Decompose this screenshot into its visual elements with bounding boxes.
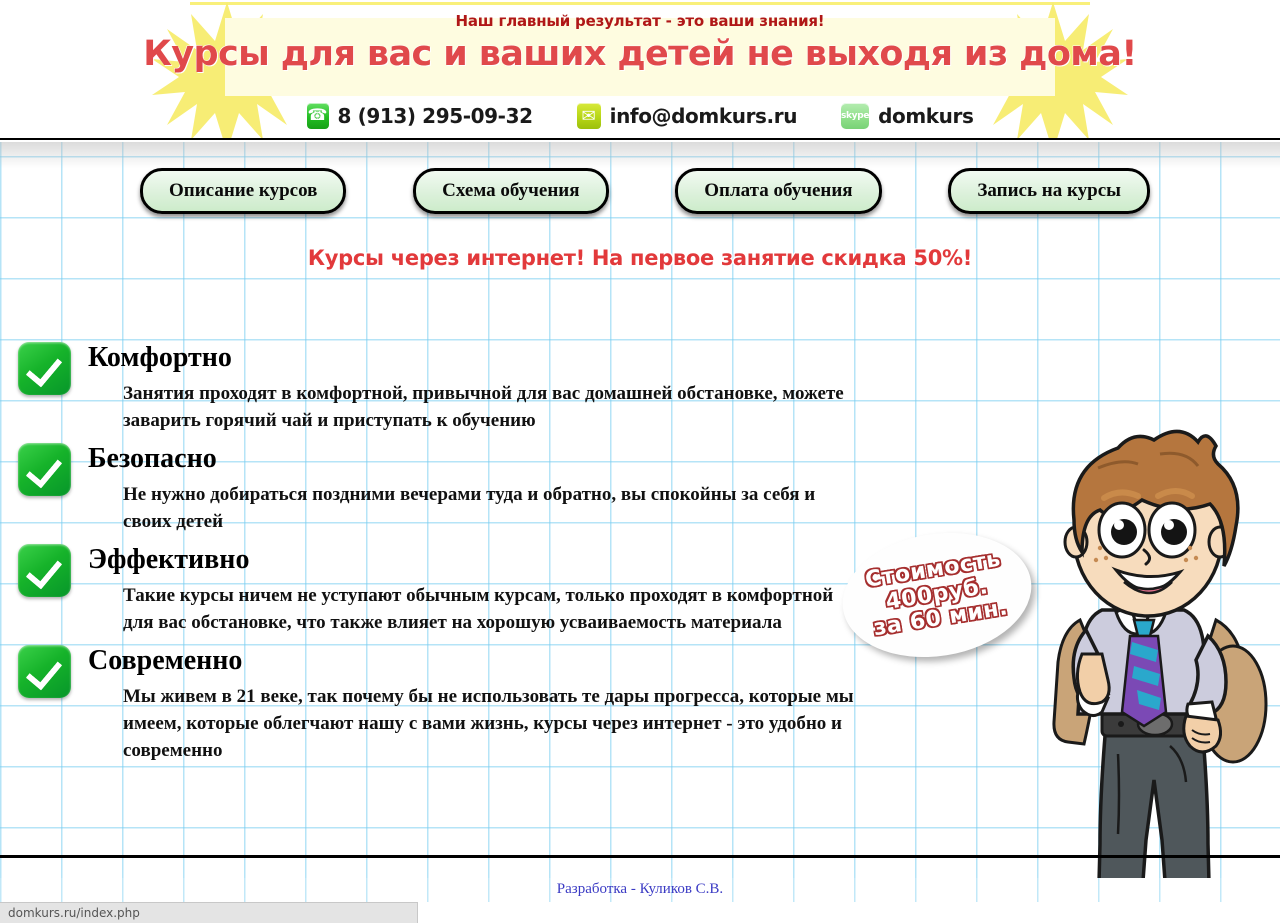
check-icon bbox=[18, 645, 71, 698]
status-bar-url: domkurs.ru/index.php bbox=[8, 906, 140, 920]
header-top-accent-line bbox=[190, 2, 1090, 5]
feature-title: Современно bbox=[88, 645, 858, 675]
contact-phone-text: 8 (913) 295-09-32 bbox=[338, 104, 533, 128]
mail-icon bbox=[577, 103, 601, 129]
feature-body: Мы живем в 21 веке, так почему бы не исп… bbox=[123, 684, 858, 765]
skype-icon: skype bbox=[841, 103, 869, 129]
check-icon bbox=[18, 443, 71, 496]
contact-skype[interactable]: skype domkurs bbox=[841, 103, 973, 129]
price-bubble: Стоимость 400руб. за 60 мин. bbox=[834, 520, 1041, 670]
contact-phone[interactable]: 8 (913) 295-09-32 bbox=[307, 103, 533, 129]
nav-button-study-scheme[interactable]: Схема обучения bbox=[413, 168, 608, 214]
browser-status-bar: domkurs.ru/index.php bbox=[0, 902, 418, 923]
header-divider bbox=[0, 138, 1280, 140]
header-kicker: Наш главный результат - это ваши знания! bbox=[0, 12, 1280, 30]
feature-item-safe: Безопасно Не нужно добираться поздними в… bbox=[18, 443, 858, 536]
footer-credit: Разработка - Куликов С.В. bbox=[0, 881, 1280, 898]
contact-email[interactable]: info@domkurs.ru bbox=[577, 103, 797, 129]
feature-body: Занятия проходят в комфортной, привычной… bbox=[123, 381, 858, 435]
phone-icon bbox=[307, 103, 329, 129]
feature-title: Безопасно bbox=[88, 443, 858, 473]
footer-divider bbox=[0, 855, 1280, 858]
nav-button-course-description[interactable]: Описание курсов bbox=[140, 168, 346, 214]
main-content: Описание курсов Схема обучения Оплата об… bbox=[0, 142, 1280, 882]
feature-body: Такие курсы ничем не уступают обычным ку… bbox=[123, 583, 858, 637]
main-navigation: Описание курсов Схема обучения Оплата об… bbox=[140, 168, 1150, 214]
feature-body: Не нужно добираться поздними вечерами ту… bbox=[123, 482, 858, 536]
contact-skype-text: domkurs bbox=[878, 104, 973, 128]
check-icon bbox=[18, 342, 71, 395]
feature-item-modern: Современно Мы живем в 21 веке, так почем… bbox=[18, 645, 858, 765]
feature-item-effective: Эффективно Такие курсы ничем не уступают… bbox=[18, 544, 858, 637]
nav-button-enroll[interactable]: Запись на курсы bbox=[948, 168, 1150, 214]
check-icon bbox=[18, 544, 71, 597]
page-root: Наш главный результат - это ваши знания!… bbox=[0, 0, 1280, 923]
feature-item-comfortable: Комфортно Занятия проходят в комфортной,… bbox=[18, 342, 858, 435]
promo-banner-text: Курсы через интернет! На первое занятие … bbox=[0, 246, 1280, 270]
site-header: Наш главный результат - это ваши знания!… bbox=[0, 0, 1280, 140]
feature-title: Комфортно bbox=[88, 342, 858, 372]
skype-icon-label: skype bbox=[841, 111, 869, 121]
contact-email-text: info@domkurs.ru bbox=[610, 104, 797, 128]
schoolboy-illustration-icon bbox=[1020, 424, 1280, 882]
header-headline: Курсы для вас и ваших детей не выходя из… bbox=[0, 34, 1280, 74]
feature-list: Комфортно Занятия проходят в комфортной,… bbox=[18, 342, 858, 773]
feature-title: Эффективно bbox=[88, 544, 858, 574]
page-bottom-fill bbox=[418, 902, 1280, 923]
contact-row: 8 (913) 295-09-32 info@domkurs.ru skype … bbox=[0, 103, 1280, 129]
nav-button-payment[interactable]: Оплата обучения bbox=[675, 168, 881, 214]
